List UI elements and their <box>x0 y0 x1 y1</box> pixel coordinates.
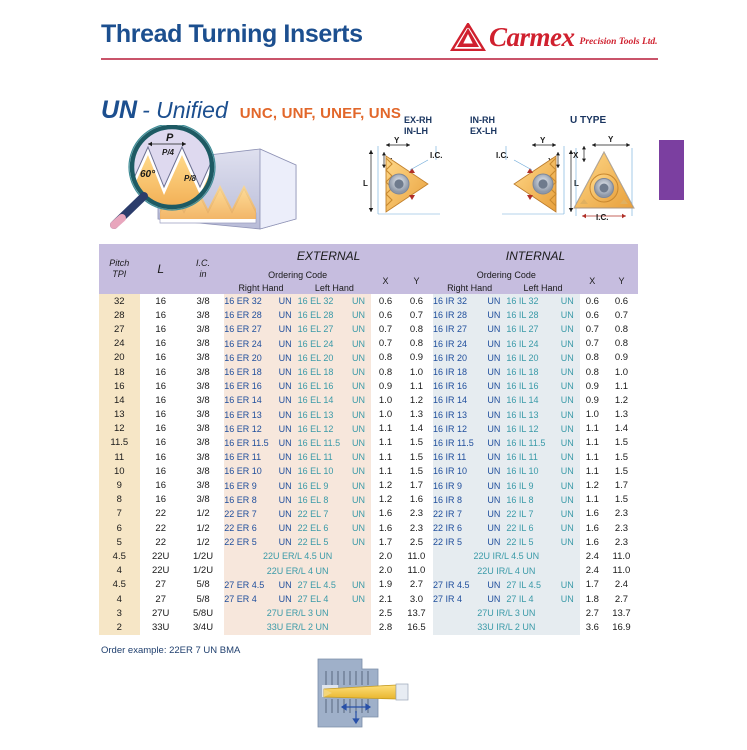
external-lh-suffix: UN <box>352 452 371 462</box>
internal-rh-suffix: UN <box>487 452 506 462</box>
internal-rh-code: 16 IR 8 <box>433 495 462 505</box>
cell-internal-y: 11.0 <box>605 549 638 563</box>
cell-pitch: 4 <box>99 564 140 578</box>
cell-external-x: 0.6 <box>371 308 400 322</box>
external-rh-code: 16 ER 10 <box>224 466 262 476</box>
cell-external-code-merged: 22U ER/L 4.5 UN <box>224 549 371 563</box>
external-lh-code: 16 EL 8 <box>298 495 329 505</box>
cell-internal-x: 1.2 <box>580 478 605 492</box>
internal-lh-suffix: UN <box>561 339 580 349</box>
page-title: Thread Turning Inserts <box>101 20 363 49</box>
table-header: Pitch TPI L I.C. in EXTERNAL INTERNAL Or… <box>99 244 638 294</box>
cell-external-right-hand: 16 ER 20UN <box>224 351 297 365</box>
cell-l: 22U <box>140 549 182 563</box>
cell-internal-x: 0.9 <box>580 393 605 407</box>
cell-external-x: 2.0 <box>371 564 400 578</box>
internal-lh-code: 16 IL 12 <box>506 424 538 434</box>
table-row: 6221/222 ER 6UN22 EL 6UN1.62.322 IR 6UN2… <box>99 521 638 535</box>
internal-lh-code: 22 IL 7 <box>506 509 533 519</box>
internal-lh-code: 16 IL 14 <box>506 395 538 405</box>
cell-ic: 1/2 <box>182 521 224 535</box>
cell-external-x: 0.9 <box>371 379 400 393</box>
cell-internal-y: 13.7 <box>605 606 638 620</box>
cell-internal-y: 0.9 <box>605 351 638 365</box>
cell-external-x: 1.6 <box>371 507 400 521</box>
external-rh-suffix: UN <box>279 594 298 604</box>
internal-rh-code: 27 IR 4.5 <box>433 580 470 590</box>
internal-rh-suffix: UN <box>487 580 506 590</box>
cell-internal-left-hand: 22 IL 5UN <box>506 535 579 549</box>
cell-external-right-hand: 22 ER 6UN <box>224 521 297 535</box>
internal-rh-code: 16 IR 11 <box>433 452 466 462</box>
header-int-ordering-code: Ordering Code <box>433 268 580 281</box>
cell-internal-x: 1.1 <box>580 464 605 478</box>
svg-text:Y: Y <box>540 136 546 145</box>
internal-lh-code: 16 IL 16 <box>506 381 538 391</box>
external-rh-suffix: UN <box>279 310 298 320</box>
internal-lh-code: 22 IL 5 <box>506 537 533 547</box>
cell-internal-right-hand: 22 IR 5UN <box>433 535 506 549</box>
cell-l: 16 <box>140 450 182 464</box>
external-ordering-code: 22U ER/L 4 UN <box>267 566 329 576</box>
section-title: UN - Unified UNC, UNF, UNEF, UNS <box>101 96 401 125</box>
cell-internal-left-hand: 16 IL 14UN <box>506 393 579 407</box>
table-row: 14163/816 ER 14UN16 EL 14UN1.01.216 IR 1… <box>99 393 638 407</box>
cell-external-right-hand: 16 ER 12UN <box>224 422 297 436</box>
cell-external-y: 0.9 <box>400 351 433 365</box>
internal-lh-code: 16 IL 24 <box>506 339 538 349</box>
cell-internal-left-hand: 16 IL 28UN <box>506 308 579 322</box>
cell-internal-left-hand: 22 IL 6UN <box>506 521 579 535</box>
cell-external-x: 0.7 <box>371 322 400 336</box>
external-lh-code: 16 EL 20 <box>298 353 334 363</box>
table-row: 5221/222 ER 5UN22 EL 5UN1.72.522 IR 5UN2… <box>99 535 638 549</box>
external-lh-code: 16 EL 27 <box>298 324 334 334</box>
cell-external-y: 11.0 <box>400 564 433 578</box>
cell-external-left-hand: 16 EL 16UN <box>298 379 371 393</box>
cell-l: 16 <box>140 478 182 492</box>
cell-internal-right-hand: 27 IR 4UN <box>433 592 506 606</box>
cell-internal-x: 1.1 <box>580 450 605 464</box>
cell-internal-y: 1.5 <box>605 493 638 507</box>
external-lh-code: 16 EL 28 <box>298 310 334 320</box>
cell-ic: 3/8 <box>182 478 224 492</box>
cell-l: 16 <box>140 294 182 308</box>
table-row: 4.5275/827 ER 4.5UN27 EL 4.5UN1.92.727 I… <box>99 578 638 592</box>
cell-external-y: 1.0 <box>400 365 433 379</box>
cell-external-x: 1.2 <box>371 478 400 492</box>
external-rh-suffix: UN <box>279 410 298 420</box>
internal-lh-code: 16 IL 20 <box>506 353 538 363</box>
cell-internal-left-hand: 27 IL 4UN <box>506 592 579 606</box>
cell-external-right-hand: 27 ER 4UN <box>224 592 297 606</box>
header-ic: I.C. in <box>182 244 224 294</box>
svg-text:L: L <box>574 179 579 188</box>
cell-internal-left-hand: 16 IL 12UN <box>506 422 579 436</box>
cell-ic: 3/4U <box>182 620 224 634</box>
cell-external-x: 1.0 <box>371 393 400 407</box>
cell-internal-x: 1.1 <box>580 436 605 450</box>
internal-rh-suffix: UN <box>487 438 506 448</box>
cell-external-right-hand: 16 ER 11.5UN <box>224 436 297 450</box>
cell-ic: 1/2 <box>182 507 224 521</box>
svg-text:60°: 60° <box>140 169 156 180</box>
internal-rh-suffix: UN <box>487 310 506 320</box>
external-rh-suffix: UN <box>279 353 298 363</box>
cell-internal-right-hand: 22 IR 6UN <box>433 521 506 535</box>
cell-pitch: 2 <box>99 620 140 634</box>
external-rh-code: 16 ER 27 <box>224 324 262 334</box>
cell-ic: 5/8U <box>182 606 224 620</box>
internal-rh-code: 16 IR 10 <box>433 466 467 476</box>
cell-external-x: 2.0 <box>371 549 400 563</box>
cell-ic: 3/8 <box>182 464 224 478</box>
internal-lh-code: 16 IL 8 <box>506 495 533 505</box>
internal-lh-suffix: UN <box>561 324 580 334</box>
external-lh-suffix: UN <box>352 495 371 505</box>
cell-internal-x: 1.8 <box>580 592 605 606</box>
section-abbreviation: UN <box>101 96 137 125</box>
external-rh-suffix: UN <box>279 495 298 505</box>
internal-lh-suffix: UN <box>561 466 580 476</box>
internal-rh-suffix: UN <box>487 481 506 491</box>
cell-external-left-hand: 16 EL 10UN <box>298 464 371 478</box>
external-rh-code: 27 ER 4 <box>224 594 257 604</box>
external-lh-code: 16 EL 9 <box>298 481 329 491</box>
cell-external-y: 1.3 <box>400 408 433 422</box>
cell-external-y: 3.0 <box>400 592 433 606</box>
cell-internal-x: 1.7 <box>580 578 605 592</box>
svg-text:Y: Y <box>394 136 400 145</box>
cell-external-code-merged: 33U ER/L 2 UN <box>224 620 371 634</box>
cell-internal-x: 0.7 <box>580 322 605 336</box>
cell-internal-left-hand: 16 IL 20UN <box>506 351 579 365</box>
cell-internal-y: 1.2 <box>605 393 638 407</box>
cell-l: 16 <box>140 393 182 407</box>
cell-external-x: 1.1 <box>371 422 400 436</box>
internal-rh-suffix: UN <box>487 537 506 547</box>
cell-pitch: 20 <box>99 351 140 365</box>
cell-pitch: 8 <box>99 493 140 507</box>
cell-ic: 3/8 <box>182 337 224 351</box>
cell-internal-y: 2.4 <box>605 578 638 592</box>
internal-lh-code: 22 IL 6 <box>506 523 533 533</box>
cell-internal-right-hand: 16 IR 28UN <box>433 308 506 322</box>
cell-l: 22 <box>140 507 182 521</box>
cell-external-x: 1.6 <box>371 521 400 535</box>
cell-internal-right-hand: 16 IR 9UN <box>433 478 506 492</box>
svg-text:I.C.: I.C. <box>430 151 442 160</box>
cell-internal-y: 2.7 <box>605 592 638 606</box>
external-lh-code: 16 EL 24 <box>298 339 334 349</box>
cell-external-y: 1.1 <box>400 379 433 393</box>
cell-external-left-hand: 16 EL 13UN <box>298 408 371 422</box>
thread-profile-illustration: 60° P/4 P/8 P <box>100 125 350 240</box>
cell-l: 16 <box>140 351 182 365</box>
cell-internal-right-hand: 27 IR 4.5UN <box>433 578 506 592</box>
cell-external-left-hand: 27 EL 4UN <box>298 592 371 606</box>
internal-lh-code: 16 IL 11 <box>506 452 538 462</box>
brand-tagline: Precision Tools Ltd. <box>580 37 658 47</box>
cell-internal-left-hand: 22 IL 7UN <box>506 507 579 521</box>
internal-lh-suffix: UN <box>561 594 580 604</box>
table-row: 11.5163/816 ER 11.5UN16 EL 11.5UN1.11.51… <box>99 436 638 450</box>
cell-l: 16 <box>140 408 182 422</box>
external-lh-code: 27 EL 4.5 <box>298 580 336 590</box>
cell-l: 16 <box>140 422 182 436</box>
cell-internal-x: 1.6 <box>580 521 605 535</box>
cell-l: 27U <box>140 606 182 620</box>
cell-external-right-hand: 16 ER 28UN <box>224 308 297 322</box>
cell-ic: 1/2U <box>182 549 224 563</box>
external-rh-code: 16 ER 11 <box>224 452 261 462</box>
external-lh-code: 22 EL 6 <box>298 523 329 533</box>
internal-lh-suffix: UN <box>561 296 580 306</box>
header-ext-x: X <box>371 268 400 294</box>
cell-external-right-hand: 16 ER 16UN <box>224 379 297 393</box>
cell-internal-left-hand: 27 IL 4.5UN <box>506 578 579 592</box>
cell-l: 33U <box>140 620 182 634</box>
cell-external-x: 0.8 <box>371 351 400 365</box>
cell-external-y: 1.5 <box>400 464 433 478</box>
cell-l: 27 <box>140 592 182 606</box>
table-row: 4275/827 ER 4UN27 EL 4UN2.13.027 IR 4UN2… <box>99 592 638 606</box>
external-lh-suffix: UN <box>352 296 371 306</box>
external-lh-suffix: UN <box>352 509 371 519</box>
cell-external-left-hand: 22 EL 6UN <box>298 521 371 535</box>
table-row: 24163/816 ER 24UN16 EL 24UN0.70.816 IR 2… <box>99 337 638 351</box>
internal-ordering-code: 33U IR/L 2 UN <box>477 622 535 632</box>
svg-text:EX-LH: EX-LH <box>470 126 497 136</box>
external-lh-code: 22 EL 5 <box>298 537 329 547</box>
internal-rh-suffix: UN <box>487 509 506 519</box>
internal-lh-code: 16 IL 28 <box>506 310 538 320</box>
external-lh-code: 16 EL 11 <box>298 452 333 462</box>
table-row: 20163/816 ER 20UN16 EL 20UN0.80.916 IR 2… <box>99 351 638 365</box>
external-lh-suffix: UN <box>352 438 371 448</box>
external-lh-suffix: UN <box>352 523 371 533</box>
cell-pitch: 28 <box>99 308 140 322</box>
cell-external-right-hand: 16 ER 9UN <box>224 478 297 492</box>
external-rh-code: 22 ER 5 <box>224 537 257 547</box>
cell-internal-y: 2.3 <box>605 507 638 521</box>
external-rh-suffix: UN <box>279 339 298 349</box>
cell-ic: 3/8 <box>182 493 224 507</box>
external-rh-suffix: UN <box>279 580 298 590</box>
internal-lh-suffix: UN <box>561 495 580 505</box>
internal-rh-code: 16 IR 9 <box>433 481 462 491</box>
cell-external-y: 1.7 <box>400 478 433 492</box>
external-rh-code: 16 ER 18 <box>224 367 262 377</box>
cell-internal-y: 0.8 <box>605 322 638 336</box>
internal-lh-code: 27 IL 4 <box>506 594 533 604</box>
internal-lh-code: 16 IL 9 <box>506 481 533 491</box>
external-lh-code: 27 EL 4 <box>298 594 329 604</box>
external-lh-code: 22 EL 7 <box>298 509 329 519</box>
cell-external-y: 0.7 <box>400 308 433 322</box>
external-rh-suffix: UN <box>279 324 298 334</box>
external-rh-suffix: UN <box>279 523 298 533</box>
cell-pitch: 7 <box>99 507 140 521</box>
cell-external-code-merged: 27U ER/L 3 UN <box>224 606 371 620</box>
cell-external-right-hand: 16 ER 18UN <box>224 365 297 379</box>
external-rh-suffix: UN <box>279 481 298 491</box>
cell-internal-y: 1.5 <box>605 436 638 450</box>
cell-external-right-hand: 22 ER 7UN <box>224 507 297 521</box>
header-ext-y: Y <box>400 268 433 294</box>
external-lh-suffix: UN <box>352 537 371 547</box>
cell-pitch: 12 <box>99 422 140 436</box>
cell-pitch: 10 <box>99 464 140 478</box>
svg-text:P/8: P/8 <box>184 174 197 183</box>
external-rh-suffix: UN <box>279 381 298 391</box>
cell-ic: 3/8 <box>182 308 224 322</box>
cell-ic: 3/8 <box>182 436 224 450</box>
external-lh-suffix: UN <box>352 367 371 377</box>
internal-rh-code: 16 IR 24 <box>433 339 467 349</box>
cell-internal-x: 2.7 <box>580 606 605 620</box>
internal-lh-suffix: UN <box>561 523 580 533</box>
external-lh-suffix: UN <box>352 310 371 320</box>
cell-pitch: 9 <box>99 478 140 492</box>
internal-lh-suffix: UN <box>561 452 580 462</box>
external-lh-code: 16 EL 11.5 <box>298 438 341 448</box>
external-rh-code: 22 ER 7 <box>224 509 257 519</box>
internal-lh-suffix: UN <box>561 481 580 491</box>
cell-internal-y: 2.3 <box>605 521 638 535</box>
internal-lh-code: 16 IL 32 <box>506 296 538 306</box>
cell-external-right-hand: 16 ER 14UN <box>224 393 297 407</box>
header-divider <box>101 58 658 60</box>
cell-l: 16 <box>140 464 182 478</box>
insert-diagrams: EX-RH IN-LH IN-RH EX-LH U TYPE L X Y <box>358 112 678 229</box>
cell-external-x: 0.6 <box>371 294 400 308</box>
external-lh-code: 16 EL 32 <box>298 296 334 306</box>
cell-pitch: 32 <box>99 294 140 308</box>
cell-pitch: 4.5 <box>99 578 140 592</box>
table-row: 11163/816 ER 11UN16 EL 11UN1.11.516 IR 1… <box>99 450 638 464</box>
cell-external-x: 2.8 <box>371 620 400 634</box>
cell-internal-y: 1.1 <box>605 379 638 393</box>
internal-ordering-code: 22U IR/L 4.5 UN <box>473 551 539 561</box>
table-row: 327U5/8U27U ER/L 3 UN2.513.727U IR/L 3 U… <box>99 606 638 620</box>
table-row: 16163/816 ER 16UN16 EL 16UN0.91.116 IR 1… <box>99 379 638 393</box>
internal-rh-suffix: UN <box>487 395 506 405</box>
cell-external-y: 2.3 <box>400 521 433 535</box>
cell-pitch: 13 <box>99 408 140 422</box>
cell-internal-x: 0.8 <box>580 351 605 365</box>
brand-name: Carmex <box>489 22 575 53</box>
external-rh-code: 16 ER 11.5 <box>224 438 268 448</box>
table-row: 13163/816 ER 13UN16 EL 13UN1.01.316 IR 1… <box>99 408 638 422</box>
cell-internal-left-hand: 16 IL 32UN <box>506 294 579 308</box>
cell-ic: 1/2 <box>182 535 224 549</box>
cell-internal-right-hand: 16 IR 27UN <box>433 322 506 336</box>
internal-rh-code: 16 IR 20 <box>433 353 467 363</box>
internal-rh-suffix: UN <box>487 495 506 505</box>
internal-rh-code: 16 IR 11.5 <box>433 438 474 448</box>
cell-internal-x: 3.6 <box>580 620 605 634</box>
external-rh-suffix: UN <box>279 296 298 306</box>
in-rh-label: IN-RH <box>470 115 495 125</box>
table-row: 4.522U1/2U22U ER/L 4.5 UN2.011.022U IR/L… <box>99 549 638 563</box>
svg-text:I.C.: I.C. <box>496 151 508 160</box>
header-ext-left-hand: Left Hand <box>298 281 371 294</box>
cell-ic: 3/8 <box>182 294 224 308</box>
cell-pitch: 11 <box>99 450 140 464</box>
external-lh-code: 16 EL 14 <box>298 395 334 405</box>
internal-rh-suffix: UN <box>487 339 506 349</box>
external-rh-suffix: UN <box>279 367 298 377</box>
header-external: EXTERNAL <box>224 244 433 268</box>
cell-external-left-hand: 27 EL 4.5UN <box>298 578 371 592</box>
cell-external-x: 1.9 <box>371 578 400 592</box>
cell-l: 27 <box>140 578 182 592</box>
cell-external-right-hand: 16 ER 10UN <box>224 464 297 478</box>
cell-external-y: 1.2 <box>400 393 433 407</box>
cell-ic: 3/8 <box>182 365 224 379</box>
cell-external-right-hand: 16 ER 8UN <box>224 493 297 507</box>
internal-rh-suffix: UN <box>487 466 506 476</box>
cell-internal-left-hand: 16 IL 8UN <box>506 493 579 507</box>
internal-rh-code: 22 IR 5 <box>433 537 462 547</box>
cell-external-left-hand: 16 EL 8UN <box>298 493 371 507</box>
cell-internal-left-hand: 16 IL 10UN <box>506 464 579 478</box>
header-int-x: X <box>580 268 605 294</box>
cell-internal-left-hand: 16 IL 13UN <box>506 408 579 422</box>
table-body: 32163/816 ER 32UN16 EL 32UN0.60.616 IR 3… <box>99 294 638 635</box>
cell-internal-left-hand: 16 IL 9UN <box>506 478 579 492</box>
cell-internal-left-hand: 16 IL 27UN <box>506 322 579 336</box>
svg-text:X: X <box>573 151 579 160</box>
table-row: 422U1/2U22U ER/L 4 UN2.011.022U IR/L 4 U… <box>99 564 638 578</box>
cell-external-y: 0.6 <box>400 294 433 308</box>
external-lh-code: 16 EL 16 <box>298 381 334 391</box>
external-rh-suffix: UN <box>279 452 298 462</box>
internal-lh-code: 16 IL 18 <box>506 367 538 377</box>
header-int-y: Y <box>605 268 638 294</box>
brand-logo: Carmex Precision Tools Ltd. <box>450 22 658 52</box>
cell-internal-x: 2.4 <box>580 564 605 578</box>
cell-external-right-hand: 16 ER 32UN <box>224 294 297 308</box>
cell-ic: 1/2U <box>182 564 224 578</box>
cell-internal-y: 1.7 <box>605 478 638 492</box>
external-lh-code: 16 EL 13 <box>298 410 334 420</box>
header-ext-right-hand: Right Hand <box>224 281 297 294</box>
cell-internal-right-hand: 16 IR 10UN <box>433 464 506 478</box>
internal-rh-code: 16 IR 14 <box>433 395 467 405</box>
svg-text:P: P <box>166 132 174 144</box>
cell-internal-right-hand: 16 IR 11UN <box>433 450 506 464</box>
internal-rh-code: 16 IR 32 <box>433 296 467 306</box>
external-lh-suffix: UN <box>352 594 371 604</box>
cell-external-y: 13.7 <box>400 606 433 620</box>
cell-internal-left-hand: 16 IL 11.5UN <box>506 436 579 450</box>
internal-lh-code: 16 IL 27 <box>506 324 538 334</box>
internal-lh-suffix: UN <box>561 537 580 547</box>
cell-external-x: 1.1 <box>371 450 400 464</box>
cell-l: 16 <box>140 436 182 450</box>
cell-external-y: 1.5 <box>400 436 433 450</box>
cell-external-left-hand: 16 EL 12UN <box>298 422 371 436</box>
internal-rh-suffix: UN <box>487 523 506 533</box>
cell-internal-y: 1.5 <box>605 464 638 478</box>
table-row: 27163/816 ER 27UN16 EL 27UN0.70.816 IR 2… <box>99 322 638 336</box>
external-lh-code: 16 EL 18 <box>298 367 334 377</box>
internal-rh-code: 16 IR 28 <box>433 310 467 320</box>
section-full-name: - Unified <box>142 97 228 124</box>
internal-lh-suffix: UN <box>561 424 580 434</box>
